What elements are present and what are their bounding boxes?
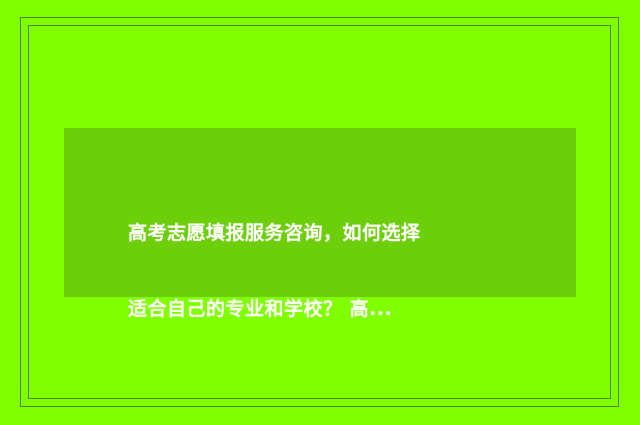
image-canvas: 高考志愿填报服务咨询，如何选择 适合自己的专业和学校？ 高... <box>0 0 640 425</box>
caption-text-block: 高考志愿填报服务咨询，如何选择 适合自己的专业和学校？ 高... <box>128 176 548 366</box>
caption-line-1: 高考志愿填报服务咨询，如何选择 <box>128 214 548 252</box>
caption-line-2: 适合自己的专业和学校？ 高... <box>128 290 548 328</box>
